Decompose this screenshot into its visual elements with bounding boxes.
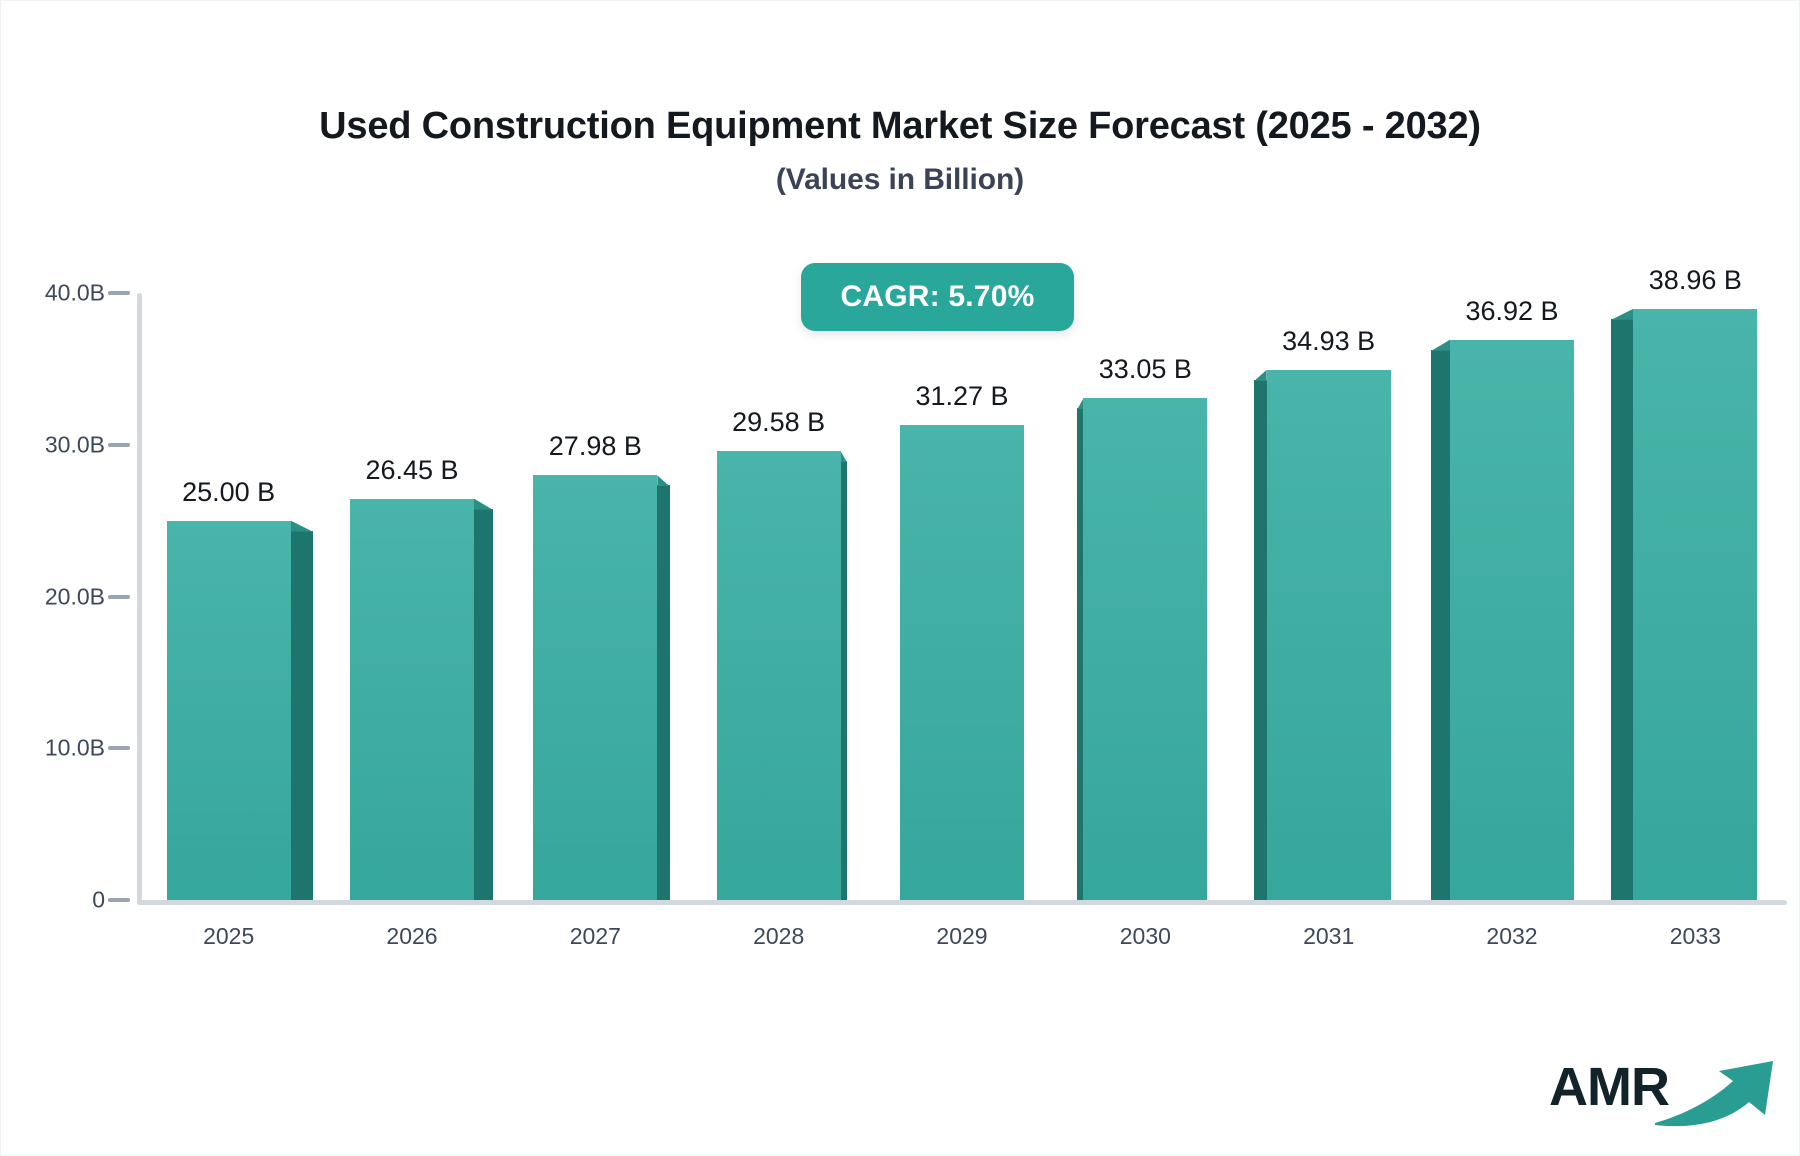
x-axis-label: 2029 — [936, 923, 987, 950]
bar — [167, 521, 291, 900]
bar-front-face — [167, 521, 291, 900]
bar-side-face — [841, 461, 847, 900]
x-axis-label: 2031 — [1303, 923, 1354, 950]
chart-page: Used Construction Equipment Market Size … — [0, 0, 1800, 1156]
y-axis-label: 10.0B — [45, 735, 105, 762]
bar-side-face — [291, 531, 313, 900]
bar-front-face — [533, 475, 657, 900]
bar-front-face — [1267, 370, 1391, 900]
bar-top-face — [1431, 340, 1450, 351]
cagr-badge-label: CAGR: 5.70% — [841, 280, 1035, 314]
bar-front-face — [717, 451, 841, 900]
x-axis-label: 2025 — [203, 923, 254, 950]
bar — [350, 499, 474, 900]
bar-top-face — [1254, 370, 1266, 381]
bar — [1633, 309, 1757, 900]
bar-front-face — [350, 499, 474, 900]
amr-logo: AMR — [1549, 1041, 1785, 1133]
x-axis-label: 2027 — [570, 923, 621, 950]
y-axis-label: 40.0B — [45, 280, 105, 307]
bar-value-label: 26.45 B — [365, 455, 458, 486]
y-axis-label: 20.0B — [45, 583, 105, 610]
x-axis-label: 2028 — [753, 923, 804, 950]
bar — [1267, 370, 1391, 900]
y-axis-tick — [108, 443, 130, 447]
bar-top-face — [474, 499, 493, 510]
bar-value-label: 25.00 B — [182, 477, 275, 508]
bar-front-face — [900, 425, 1024, 900]
x-axis-label: 2026 — [386, 923, 437, 950]
chart-plot-area: 40.0B30.0B20.0B10.0B0 25.00 B26.45 B27.9… — [1, 1, 1800, 1001]
bar-value-label: 27.98 B — [549, 431, 642, 462]
x-axis-label: 2033 — [1670, 923, 1721, 950]
x-axis-label: 2032 — [1486, 923, 1537, 950]
bar-side-face — [1431, 350, 1450, 900]
bar-front-face — [1083, 398, 1207, 900]
y-axis-label: 0 — [92, 887, 105, 914]
y-axis-label: 30.0B — [45, 431, 105, 458]
bar-side-face — [1254, 380, 1266, 900]
y-axis-tick — [108, 291, 130, 295]
bar — [900, 425, 1024, 900]
x-axis-line — [137, 900, 1787, 905]
y-axis-tick — [108, 898, 130, 902]
growth-arrow-icon — [1653, 1053, 1785, 1133]
bar-value-label: 31.27 B — [915, 381, 1008, 412]
bar-value-label: 38.96 B — [1649, 265, 1742, 296]
bar-front-face — [1450, 340, 1574, 900]
bar — [717, 451, 841, 900]
bar — [533, 475, 657, 900]
bar-value-label: 34.93 B — [1282, 326, 1375, 357]
y-axis-tick — [108, 595, 130, 599]
amr-wordmark: AMR — [1549, 1060, 1669, 1114]
bar-side-face — [657, 485, 669, 900]
bar-value-label: 33.05 B — [1099, 354, 1192, 385]
y-axis-tick — [108, 746, 130, 750]
bar-top-face — [1611, 309, 1633, 320]
cagr-badge: CAGR: 5.70% — [801, 263, 1074, 331]
bar-side-face — [474, 509, 493, 900]
bar-side-face — [1077, 408, 1083, 900]
bar-side-face — [1611, 319, 1633, 900]
bar-front-face — [1633, 309, 1757, 900]
bar — [1450, 340, 1574, 900]
y-axis-line — [137, 293, 142, 905]
bar-value-label: 29.58 B — [732, 407, 825, 438]
bar — [1083, 398, 1207, 900]
x-axis-label: 2030 — [1120, 923, 1171, 950]
bar-value-label: 36.92 B — [1465, 296, 1558, 327]
